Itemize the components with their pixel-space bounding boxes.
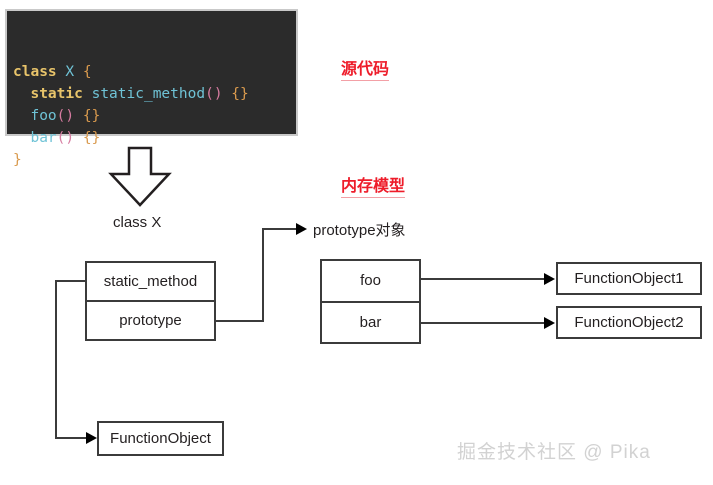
connector-prototype-arrowhead — [296, 223, 307, 235]
code-token: static — [30, 86, 82, 102]
function-object-box: FunctionObject — [97, 421, 224, 456]
code-token — [74, 64, 83, 80]
source-code-line: class X { — [13, 61, 296, 83]
prototype-row-bar: bar — [322, 301, 419, 343]
code-token: class — [13, 64, 57, 80]
connector-foo-line — [421, 278, 545, 280]
code-token: } — [13, 152, 22, 168]
code-token: {} — [83, 130, 100, 146]
code-token: {} — [83, 108, 100, 124]
connector-prototype-segment-up — [262, 228, 264, 322]
code-token: X — [65, 64, 74, 80]
code-token — [13, 108, 30, 124]
function-object-2-box: FunctionObject2 — [556, 306, 702, 339]
code-token — [223, 86, 232, 102]
memory-model-annotation: 内存模型 — [341, 172, 405, 198]
code-token: () — [57, 130, 74, 146]
down-arrow-icon — [107, 146, 173, 213]
code-token — [74, 108, 83, 124]
connector-foo-arrowhead — [544, 273, 555, 285]
code-token — [83, 86, 92, 102]
connector-bar-line — [421, 322, 545, 324]
class-object-box: static_method prototype — [85, 261, 216, 341]
source-code-line: static static_method() {} — [13, 83, 296, 105]
source-code-line: foo() {} — [13, 105, 296, 127]
prototype-row-foo: foo — [322, 261, 419, 301]
code-token: foo — [30, 108, 56, 124]
code-token: bar — [30, 130, 56, 146]
code-token: static_method — [92, 86, 206, 102]
code-token — [13, 130, 30, 146]
connector-prototype-segment-right — [216, 320, 264, 322]
code-token — [13, 86, 30, 102]
prototype-object-box: foo bar — [320, 259, 421, 344]
connector-static-method-segment-down — [55, 280, 57, 438]
code-token: () — [205, 86, 222, 102]
code-token: { — [83, 64, 92, 80]
prototype-object-label: prototype对象 — [313, 219, 406, 240]
connector-bar-arrowhead — [544, 317, 555, 329]
class-row-prototype: prototype — [87, 300, 214, 339]
code-token: {} — [231, 86, 248, 102]
connector-static-method-arrowhead — [86, 432, 97, 444]
connector-prototype-segment-top — [262, 228, 298, 230]
class-x-label: class X — [113, 214, 161, 231]
code-token: () — [57, 108, 74, 124]
watermark-text: 掘金技术社区 @ Pika — [457, 437, 651, 464]
function-object-1-box: FunctionObject1 — [556, 262, 702, 295]
connector-static-method-segment-left — [55, 280, 86, 282]
source-code-annotation: 源代码 — [341, 55, 389, 81]
class-row-static-method: static_method — [87, 263, 214, 300]
diagram-canvas: class X { static static_method() {} foo(… — [0, 0, 713, 485]
source-code-block: class X { static static_method() {} foo(… — [5, 9, 298, 136]
connector-static-method-segment-right — [55, 437, 88, 439]
code-token — [74, 130, 83, 146]
